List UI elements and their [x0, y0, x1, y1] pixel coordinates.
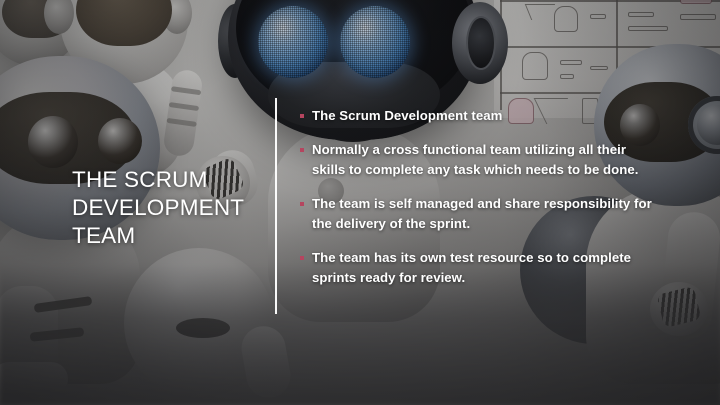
bullet-list: The Scrum Development team Normally a cr…: [297, 106, 657, 289]
slide-content: THE SCRUM DEVELOPMENT TEAM The Scrum Dev…: [0, 0, 720, 405]
bullet-marker-icon: [300, 148, 304, 152]
bullet-text: The team is self managed and share respo…: [312, 196, 652, 232]
bullet-marker-icon: [300, 202, 304, 206]
vertical-divider: [275, 98, 277, 314]
bullet-marker-icon: [300, 256, 304, 260]
bullet-marker-icon: [300, 114, 304, 118]
page-title: THE SCRUM DEVELOPMENT TEAM: [72, 166, 262, 250]
bullet-text: The Scrum Development team: [312, 108, 502, 123]
bullet-text: Normally a cross functional team utilizi…: [312, 142, 638, 178]
list-item: The team has its own test resource so to…: [297, 248, 657, 289]
bullet-text: The team has its own test resource so to…: [312, 250, 631, 286]
list-item: Normally a cross functional team utilizi…: [297, 140, 657, 181]
presentation-slide: THE SCRUM DEVELOPMENT TEAM The Scrum Dev…: [0, 0, 720, 405]
list-item: The Scrum Development team: [297, 106, 657, 127]
list-item: The team is self managed and share respo…: [297, 194, 657, 235]
